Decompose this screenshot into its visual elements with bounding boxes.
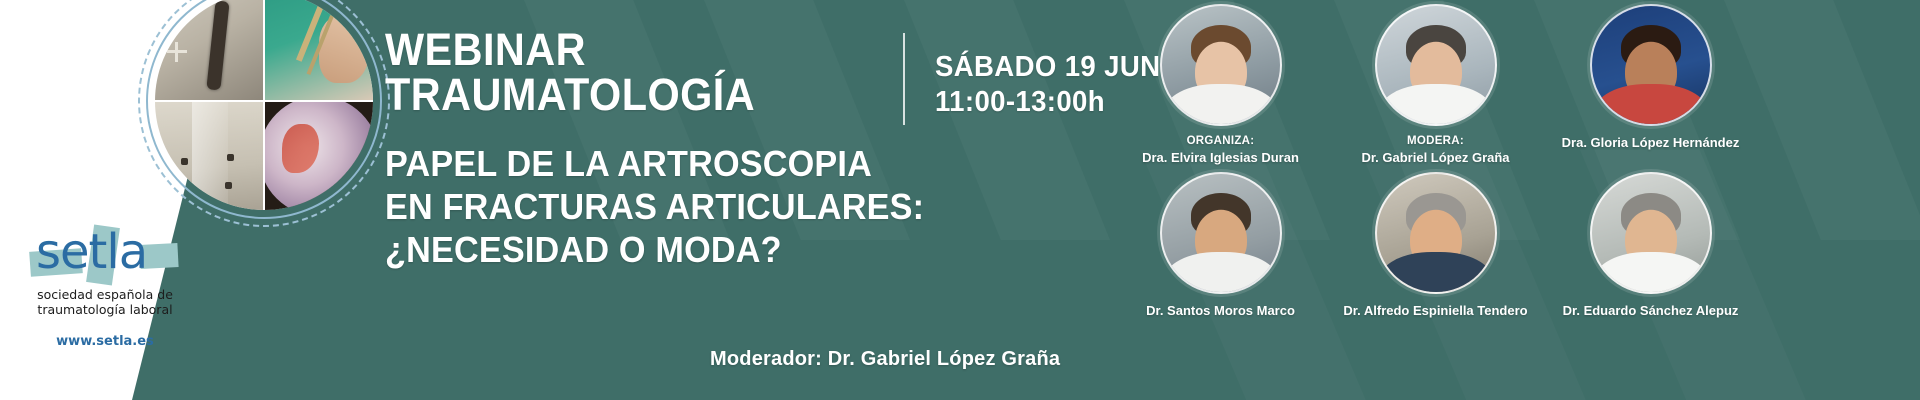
radiograph-ankle-image xyxy=(155,102,263,210)
webinar-kicker: WEBINAR TRAUMATOLOGÍA xyxy=(385,28,787,117)
speaker-avatar xyxy=(1160,172,1282,294)
speaker-caption: Dr. Santos Moros Marco xyxy=(1123,302,1318,319)
webinar-subject-title: PAPEL DE LA ARTROSCOPIA EN FRACTURAS ART… xyxy=(385,142,924,272)
speaker-name: Dra. Elvira Iglesias Duran xyxy=(1123,149,1318,166)
avatar-torso-shape xyxy=(1380,252,1492,294)
speaker-role: ORGANIZA: xyxy=(1123,134,1318,149)
speaker-avatar xyxy=(1590,172,1712,294)
speaker-caption: Dra. Gloria López Hernández xyxy=(1553,134,1748,151)
speaker-avatar xyxy=(1590,4,1712,126)
speaker-name: Dr. Santos Moros Marco xyxy=(1123,302,1318,319)
speaker-caption: ORGANIZA: Dra. Elvira Iglesias Duran xyxy=(1123,134,1318,166)
logo-tagline-line1: sociedad española de xyxy=(37,287,173,302)
speaker-card[interactable]: Dra. Gloria López Hernández xyxy=(1553,4,1748,166)
subject-line-2: EN FRACTURAS ARTICULARES: xyxy=(385,185,924,228)
webinar-banner: setla sociedad española de traumatología… xyxy=(0,0,1920,400)
speaker-card[interactable]: Dr. Santos Moros Marco xyxy=(1123,172,1318,319)
moderator-line: Moderador: Dr. Gabriel López Graña xyxy=(710,348,1060,371)
speaker-avatar xyxy=(1375,4,1497,126)
kicker-line-2: TRAUMATOLOGÍA xyxy=(385,73,755,118)
medical-photo-collage xyxy=(155,0,373,210)
speaker-avatar xyxy=(1375,172,1497,294)
xray-plate-fixation-image xyxy=(155,0,263,100)
avatar-torso-shape xyxy=(1595,84,1707,126)
speaker-caption: Dr. Alfredo Espiniella Tendero xyxy=(1338,302,1533,319)
subject-line-1: PAPEL DE LA ARTROSCOPIA xyxy=(385,142,924,185)
logo-tagline-line2: traumatología laboral xyxy=(37,302,172,317)
setla-logo[interactable]: setla sociedad española de traumatología… xyxy=(30,222,180,349)
speaker-role: MODERA: xyxy=(1338,134,1533,149)
subject-line-3: ¿NECESIDAD O MODA? xyxy=(385,228,924,271)
speaker-card[interactable]: Dr. Alfredo Espiniella Tendero xyxy=(1338,172,1533,319)
logo-website-url[interactable]: www.setla.es xyxy=(30,334,180,349)
speaker-card[interactable]: ORGANIZA: Dra. Elvira Iglesias Duran xyxy=(1123,4,1318,166)
speaker-caption: MODERA: Dr. Gabriel López Graña xyxy=(1338,134,1533,166)
logo-wordmark: setla xyxy=(36,228,147,276)
speaker-card[interactable]: MODERA: Dr. Gabriel López Graña xyxy=(1338,4,1533,166)
speaker-name: Dra. Gloria López Hernández xyxy=(1553,134,1748,151)
vertical-divider xyxy=(903,33,905,125)
kicker-line-1: WEBINAR xyxy=(385,28,755,73)
arthroscopy-surgery-operating-room-image xyxy=(265,0,373,100)
logo-tagline: sociedad española de traumatología labor… xyxy=(30,288,180,318)
collage-grid xyxy=(155,0,373,210)
avatar-torso-shape xyxy=(1165,84,1277,126)
avatar-torso-shape xyxy=(1595,252,1707,294)
speaker-portraits: ORGANIZA: Dra. Elvira Iglesias Duran MOD… xyxy=(1115,4,1915,396)
speaker-caption: Dr. Eduardo Sánchez Alepuz xyxy=(1553,302,1748,319)
speaker-name: Dr. Alfredo Espiniella Tendero xyxy=(1338,302,1533,319)
speaker-name: Dr. Eduardo Sánchez Alepuz xyxy=(1553,302,1748,319)
speaker-card[interactable]: Dr. Eduardo Sánchez Alepuz xyxy=(1553,172,1748,319)
speaker-avatar xyxy=(1160,4,1282,126)
speaker-row-bottom: Dr. Santos Moros Marco Dr. Alfredo Espin… xyxy=(1123,172,1920,319)
avatar-torso-shape xyxy=(1165,252,1277,294)
speaker-row-top: ORGANIZA: Dra. Elvira Iglesias Duran MOD… xyxy=(1123,4,1920,166)
logo-mark: setla xyxy=(30,222,178,284)
speaker-name: Dr. Gabriel López Graña xyxy=(1338,149,1533,166)
avatar-torso-shape xyxy=(1380,84,1492,126)
arthroscopic-joint-view-image xyxy=(265,102,373,210)
